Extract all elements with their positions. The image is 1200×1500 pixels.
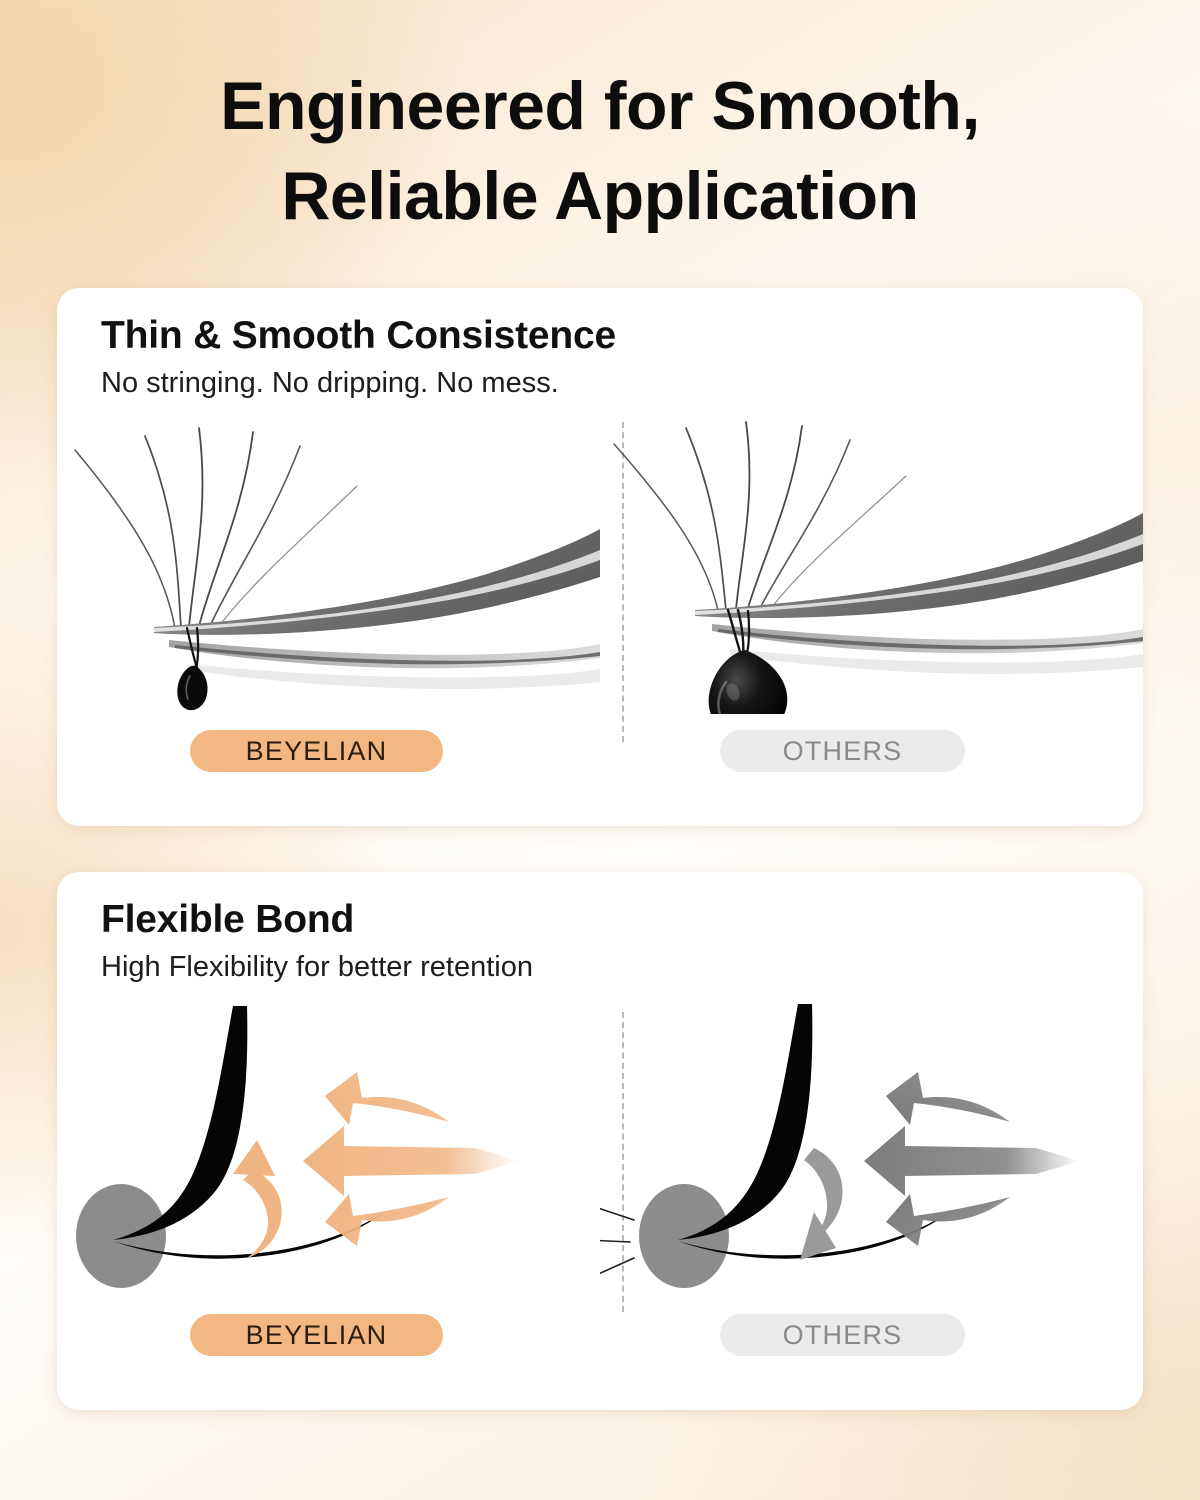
card-1-subheading: No stringing. No dripping. No mess. xyxy=(101,367,559,400)
badge-others-card-1: OTHERS xyxy=(720,730,965,772)
bond-blob xyxy=(76,1184,166,1288)
infographic-page: Engineered for Smooth, Reliable Applicat… xyxy=(0,0,1200,1500)
illustration-lash-bond-cracking-gray-arrows xyxy=(600,998,1143,1298)
badge-beyelian-card-2: BEYELIAN xyxy=(190,1314,443,1356)
illustration-tweezer-lash-fan-small-glue-drop xyxy=(57,414,600,714)
badge-beyelian-card-1: BEYELIAN xyxy=(190,730,443,772)
bond-blob xyxy=(639,1184,729,1288)
card-1-panel-beyelian: BEYELIAN xyxy=(57,414,600,814)
card-1-panel-others: OTHERS xyxy=(600,414,1143,814)
page-title: Engineered for Smooth, Reliable Applicat… xyxy=(0,62,1200,242)
page-title-line-2: Reliable Application xyxy=(0,152,1200,242)
card-2-comparison: BEYELIAN xyxy=(57,998,1143,1398)
crack-lines xyxy=(600,1206,634,1276)
illustration-lash-bond-flexing-peach-arrows xyxy=(57,998,600,1298)
card-1-comparison: BEYELIAN xyxy=(57,414,1143,814)
card-1-heading: Thin & Smooth Consistence xyxy=(101,314,616,358)
feature-card-flexible-bond: Flexible Bond High Flexibility for bette… xyxy=(57,872,1143,1410)
card-2-panel-beyelian: BEYELIAN xyxy=(57,998,600,1398)
badge-others-card-2: OTHERS xyxy=(720,1314,965,1356)
card-2-heading: Flexible Bond xyxy=(101,898,354,942)
card-2-subheading: High Flexibility for better retention xyxy=(101,951,533,984)
page-title-line-1: Engineered for Smooth, xyxy=(0,62,1200,152)
feature-card-thin-smooth-consistence: Thin & Smooth Consistence No stringing. … xyxy=(57,288,1143,826)
illustration-tweezer-lash-fan-large-glue-drop xyxy=(600,414,1143,714)
card-2-panel-others: OTHERS xyxy=(600,998,1143,1398)
